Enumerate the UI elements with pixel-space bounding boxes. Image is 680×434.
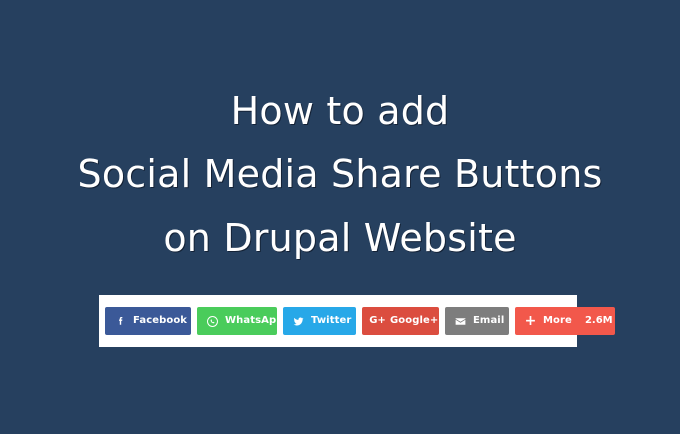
share-button-more[interactable]: + More 2.6M <box>515 307 615 335</box>
share-bar: Facebook WhatsApp Twi <box>105 307 571 335</box>
share-button-more-label: More <box>543 307 572 335</box>
share-button-facebook[interactable]: Facebook <box>105 307 191 335</box>
whatsapp-icon <box>206 315 219 328</box>
share-button-facebook-label: Facebook <box>133 307 187 335</box>
facebook-icon <box>114 315 127 328</box>
title-line-3: on Drupal Website <box>0 213 680 263</box>
title-block: How to add Social Media Share Buttons on… <box>0 86 680 263</box>
slide-canvas: How to add Social Media Share Buttons on… <box>0 0 680 434</box>
envelope-icon <box>454 315 467 328</box>
title-line-2: Social Media Share Buttons <box>0 148 680 200</box>
share-button-whatsapp[interactable]: WhatsApp <box>197 307 277 335</box>
share-button-email-label: Email <box>473 307 504 335</box>
plus-icon: + <box>524 315 537 328</box>
share-count: 2.6M <box>585 307 613 335</box>
twitter-icon <box>292 315 305 328</box>
google-plus-icon: G+ <box>371 315 384 328</box>
share-button-email[interactable]: Email <box>445 307 509 335</box>
title-line-1: How to add <box>0 86 680 136</box>
share-button-whatsapp-label: WhatsApp <box>225 307 284 335</box>
share-button-twitter[interactable]: Twitter <box>283 307 356 335</box>
share-button-twitter-label: Twitter <box>311 307 351 335</box>
share-button-googleplus[interactable]: G+ Google+ <box>362 307 439 335</box>
share-button-googleplus-label: Google+ <box>390 307 438 335</box>
share-bar-container: Facebook WhatsApp Twi <box>99 295 577 347</box>
